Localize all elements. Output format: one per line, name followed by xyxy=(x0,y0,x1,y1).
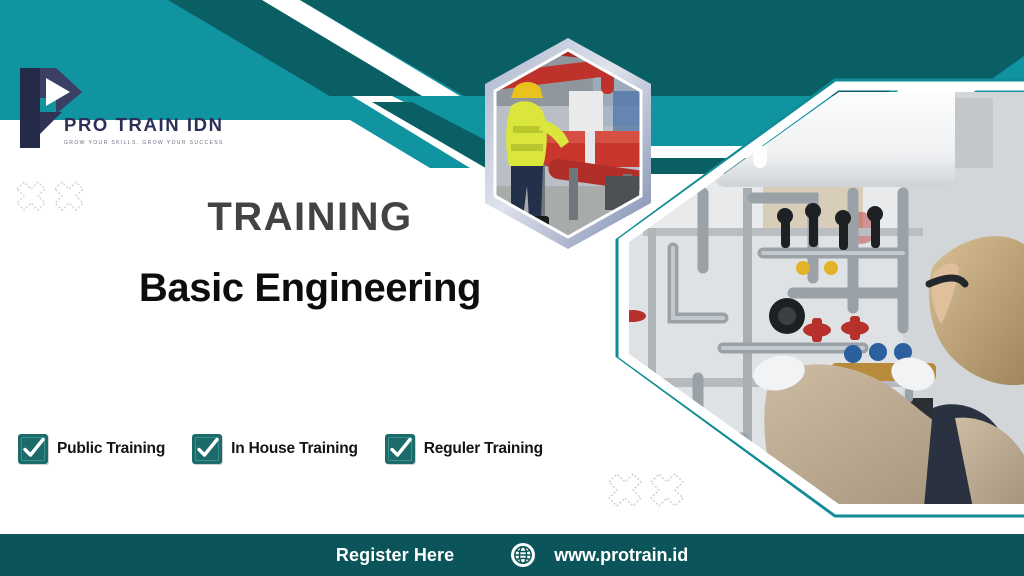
option-label: Public Training xyxy=(57,440,165,458)
option-label: Reguler Training xyxy=(424,440,543,458)
band-white-diagonal xyxy=(262,0,500,120)
option-public-training[interactable]: Public Training xyxy=(18,434,165,464)
training-type-options: Public Training In House Training Regule… xyxy=(18,434,570,464)
brand-logo[interactable]: PRO TRAIN IDN GROW YOUR SKILLS. GROW YOU… xyxy=(16,62,246,167)
hexagon-photo-large xyxy=(603,78,1024,518)
hexagon-photo-large-content xyxy=(603,78,1024,518)
footer-bar: Register Here www.protrain.id xyxy=(0,534,1024,576)
globe-icon xyxy=(510,542,536,568)
training-poster: PRO TRAIN IDN GROW YOUR SKILLS. GROW YOU… xyxy=(0,0,1024,576)
logo-tagline: GROW YOUR SKILLS. GROW YOUR SUCCESS xyxy=(64,140,244,146)
band-light-teal-left-shape xyxy=(0,0,300,52)
worker-hivis-vest xyxy=(506,101,547,166)
website-url: www.protrain.id xyxy=(554,545,688,566)
option-in-house-training[interactable]: In House Training xyxy=(192,434,358,464)
option-reguler-training[interactable]: Reguler Training xyxy=(385,434,543,464)
checkbox-checked-icon[interactable] xyxy=(192,434,222,464)
register-here-label: Register Here xyxy=(336,545,454,566)
page-title: Basic Engineering xyxy=(60,267,560,309)
hexagon-photo-small-content xyxy=(473,36,663,251)
checkbox-checked-icon[interactable] xyxy=(18,434,48,464)
hexagon-photo-small xyxy=(473,36,663,251)
logo-wordmark: PRO TRAIN IDN xyxy=(64,116,244,135)
checkbox-checked-icon[interactable] xyxy=(385,434,415,464)
option-label: In House Training xyxy=(231,440,358,458)
